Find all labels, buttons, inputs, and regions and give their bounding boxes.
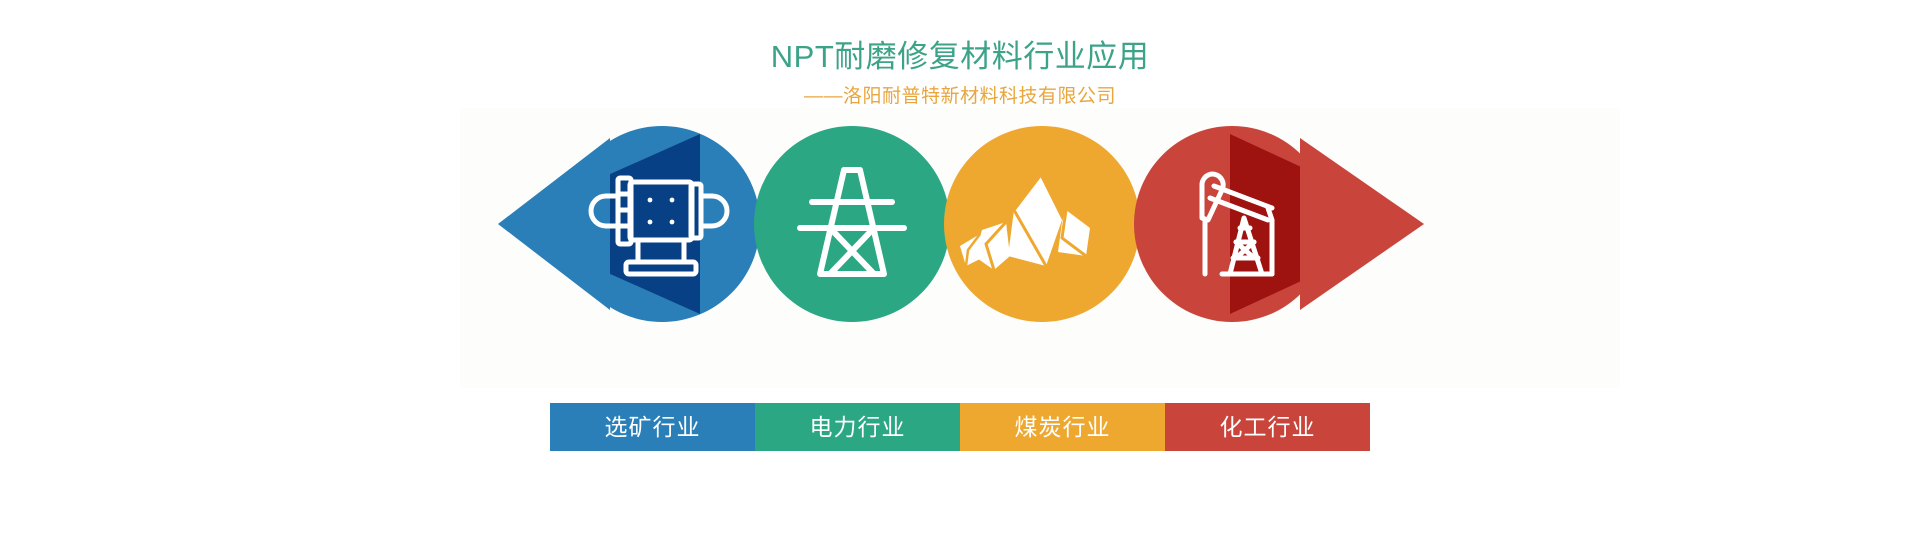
page-title: NPT耐磨修复材料行业应用 — [0, 36, 1920, 78]
industry-label-bar: 选矿行业 电力行业 煤炭行业 化工行业 — [550, 403, 1370, 451]
page-subtitle: ——洛阳耐普特新材料科技有限公司 — [0, 84, 1920, 110]
heading-block: NPT耐磨修复材料行业应用 ——洛阳耐普特新材料科技有限公司 — [0, 36, 1920, 110]
banner-stage: NPT耐磨修复材料行业应用 ——洛阳耐普特新材料科技有限公司 — [0, 0, 1920, 540]
left-point-cap — [498, 138, 610, 310]
label-power[interactable]: 电力行业 — [755, 403, 960, 451]
label-chemical[interactable]: 化工行业 — [1165, 403, 1370, 451]
label-mineral-processing[interactable]: 选矿行业 — [550, 403, 755, 451]
industry-graphic — [0, 124, 1920, 324]
label-coal[interactable]: 煤炭行业 — [960, 403, 1165, 451]
right-point-cap — [1300, 138, 1424, 310]
segment-circle-power[interactable] — [754, 126, 950, 322]
